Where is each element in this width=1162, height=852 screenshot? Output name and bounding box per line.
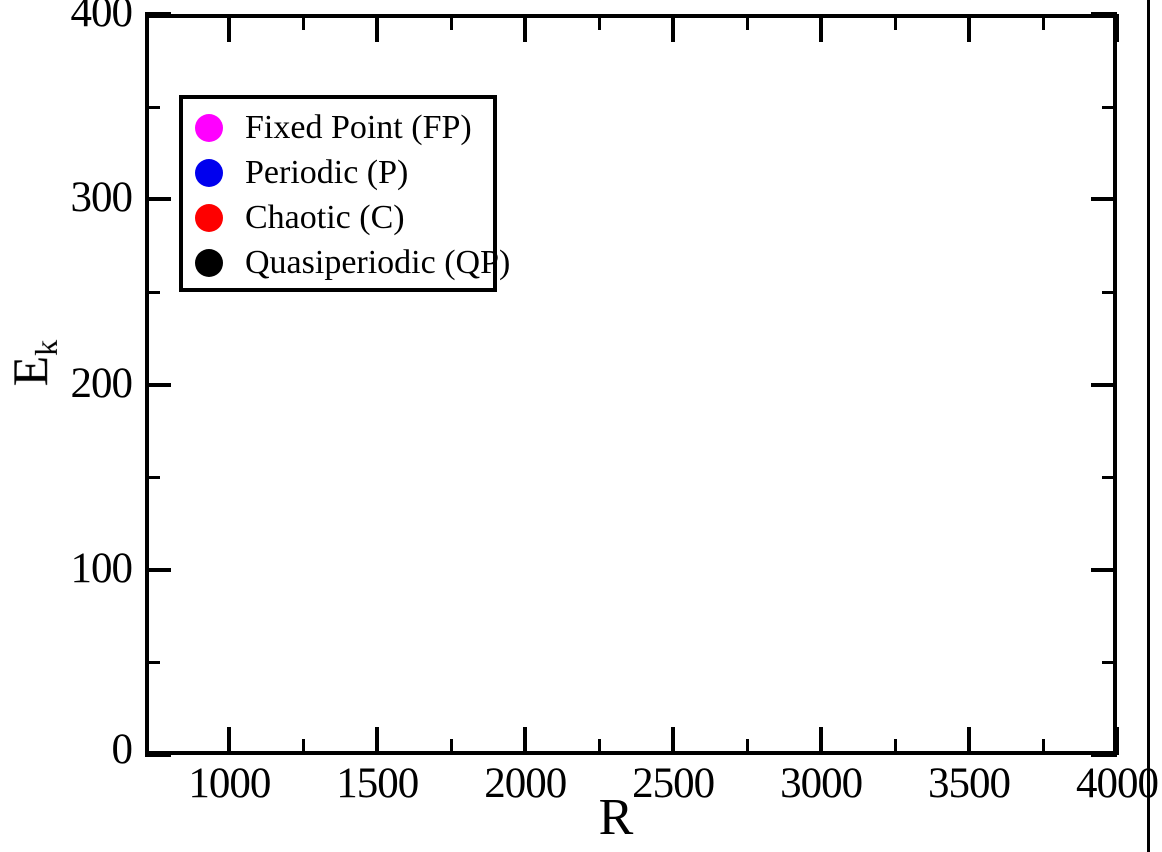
y-tick-label-300: 300 — [71, 176, 133, 219]
y-tick-major-400 — [1091, 12, 1117, 16]
x-tick-major-1000 — [227, 14, 231, 42]
y-tick-major-400 — [145, 12, 171, 16]
x-tick-minor-3250 — [894, 14, 897, 30]
legend-label-c: Chaotic (C) — [245, 201, 405, 235]
x-tick-major-2000 — [523, 727, 527, 755]
x-tick-major-1000 — [227, 727, 231, 755]
x-tick-major-3500 — [967, 727, 971, 755]
y-tick-major-0 — [145, 753, 171, 757]
x-tick-major-4000 — [1115, 14, 1119, 42]
legend-marker-qp-icon — [195, 249, 223, 277]
x-tick-minor-2750 — [746, 739, 749, 755]
y-tick-label-200: 200 — [71, 362, 133, 405]
x-tick-major-2500 — [671, 727, 675, 755]
bifurcation-figure: 0100200300400100015002000250030003500400… — [0, 0, 1162, 852]
y-tick-minor-50 — [1102, 661, 1117, 664]
y-tick-minor-250 — [1102, 291, 1117, 294]
y-tick-major-0 — [1091, 753, 1117, 757]
x-axis-title: R — [576, 792, 656, 844]
x-tick-minor-2250 — [598, 739, 601, 755]
y-tick-major-200 — [1091, 383, 1117, 387]
x-tick-minor-1250 — [302, 14, 305, 30]
legend-marker-c-icon — [195, 204, 223, 232]
y-tick-minor-350 — [1102, 106, 1117, 109]
y-axis-title-base: E — [2, 356, 58, 387]
x-tick-minor-1750 — [450, 739, 453, 755]
x-tick-major-3000 — [819, 14, 823, 42]
y-axis-title: Ek — [5, 303, 71, 423]
x-tick-label-4000: 4000 — [1047, 762, 1162, 805]
right-margin-rule — [1147, 0, 1150, 852]
x-tick-major-1500 — [375, 14, 379, 42]
x-tick-minor-3250 — [894, 739, 897, 755]
x-tick-label-1000: 1000 — [159, 762, 299, 805]
y-tick-minor-50 — [145, 661, 160, 664]
x-tick-minor-3750 — [1042, 739, 1045, 755]
legend-item-fp: Fixed Point (FP) — [183, 105, 493, 150]
y-tick-major-200 — [145, 383, 171, 387]
legend-marker-fp-icon — [195, 114, 223, 142]
y-tick-label-400: 400 — [71, 0, 133, 34]
x-tick-minor-2250 — [598, 14, 601, 30]
y-tick-minor-250 — [145, 291, 160, 294]
y-tick-major-300 — [145, 197, 171, 201]
y-tick-major-300 — [1091, 197, 1117, 201]
x-tick-minor-1750 — [450, 14, 453, 30]
legend-item-p: Periodic (P) — [183, 150, 493, 195]
x-tick-major-1500 — [375, 727, 379, 755]
x-tick-major-3000 — [819, 727, 823, 755]
legend-label-fp: Fixed Point (FP) — [245, 111, 472, 145]
x-tick-minor-3750 — [1042, 14, 1045, 30]
y-tick-minor-350 — [145, 106, 160, 109]
legend-label-qp: Quasiperiodic (QP) — [245, 246, 510, 280]
y-axis-title-subscript: k — [28, 340, 64, 356]
legend-item-qp: Quasiperiodic (QP) — [183, 240, 493, 285]
x-tick-major-3500 — [967, 14, 971, 42]
y-tick-minor-150 — [1102, 476, 1117, 479]
x-tick-label-3000: 3000 — [751, 762, 891, 805]
y-tick-major-100 — [145, 568, 171, 572]
x-tick-label-3500: 3500 — [899, 762, 1039, 805]
x-tick-label-1500: 1500 — [307, 762, 447, 805]
x-tick-minor-2750 — [746, 14, 749, 30]
y-tick-minor-150 — [145, 476, 160, 479]
x-tick-major-2500 — [671, 14, 675, 42]
x-tick-label-2000: 2000 — [455, 762, 595, 805]
y-tick-major-100 — [1091, 568, 1117, 572]
y-tick-label-100: 100 — [71, 547, 133, 590]
legend-marker-p-icon — [195, 159, 223, 187]
legend-label-p: Periodic (P) — [245, 156, 408, 190]
legend-item-c: Chaotic (C) — [183, 195, 493, 240]
x-tick-major-2000 — [523, 14, 527, 42]
y-tick-label-0: 0 — [112, 728, 133, 771]
x-tick-major-4000 — [1115, 727, 1119, 755]
legend-box: Fixed Point (FP)Periodic (P)Chaotic (C)Q… — [179, 95, 497, 292]
x-tick-minor-1250 — [302, 739, 305, 755]
